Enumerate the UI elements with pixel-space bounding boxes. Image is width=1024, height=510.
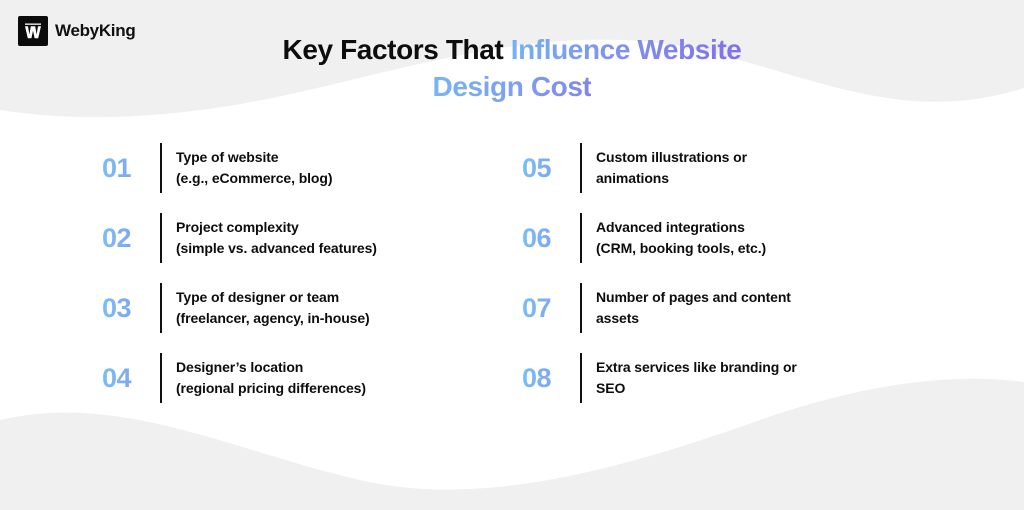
factor-divider	[580, 213, 582, 263]
factor-number: 05	[522, 153, 580, 184]
factor-label: Project complexity(simple vs. advanced f…	[176, 217, 377, 260]
list-item: 06 Advanced integrations(CRM, booking to…	[512, 203, 932, 273]
factor-label-line1: Number of pages and content	[596, 289, 791, 305]
factor-number: 04	[102, 363, 160, 394]
factor-divider	[160, 143, 162, 193]
factor-label-line2: animations	[596, 168, 747, 189]
factor-label-line1: Advanced integrations	[596, 219, 745, 235]
title-line-1: Key Factors That Influence Website	[0, 32, 1024, 69]
list-item: 01 Type of website(e.g., eCommerce, blog…	[92, 133, 512, 203]
title-part-accent-2: Design Cost	[433, 71, 592, 102]
factor-label-line2: (e.g., eCommerce, blog)	[176, 168, 332, 189]
factor-label: Type of website(e.g., eCommerce, blog)	[176, 147, 332, 190]
factor-label: Number of pages and contentassets	[596, 287, 791, 330]
factor-divider	[160, 353, 162, 403]
factor-label: Advanced integrations(CRM, booking tools…	[596, 217, 766, 260]
list-item: 02 Project complexity(simple vs. advance…	[92, 203, 512, 273]
factor-label: Extra services like branding orSEO	[596, 357, 797, 400]
factor-label-line1: Designer’s location	[176, 359, 303, 375]
list-item: 04 Designer’s location(regional pricing …	[92, 343, 512, 413]
factor-number: 02	[102, 223, 160, 254]
factor-label-line2: (regional pricing differences)	[176, 378, 366, 399]
list-item: 03 Type of designer or team(freelancer, …	[92, 273, 512, 343]
factor-divider	[580, 143, 582, 193]
factor-label-line1: Type of website	[176, 149, 278, 165]
list-item: 07 Number of pages and contentassets	[512, 273, 932, 343]
factors-list: 01 Type of website(e.g., eCommerce, blog…	[0, 133, 1024, 413]
factor-divider	[160, 283, 162, 333]
factor-label-line1: Custom illustrations or	[596, 149, 747, 165]
factor-divider	[160, 213, 162, 263]
factor-label: Designer’s location(regional pricing dif…	[176, 357, 366, 400]
title-line-2: Design Cost	[0, 69, 1024, 106]
factor-label-line1: Extra services like branding or	[596, 359, 797, 375]
factor-number: 06	[522, 223, 580, 254]
factor-label-line1: Project complexity	[176, 219, 299, 235]
factor-number: 01	[102, 153, 160, 184]
factor-label-line2: (freelancer, agency, in-house)	[176, 308, 370, 329]
list-item: 05 Custom illustrations oranimations	[512, 133, 932, 203]
factor-number: 07	[522, 293, 580, 324]
list-item: 08 Extra services like branding orSEO	[512, 343, 932, 413]
page-title: Key Factors That Influence Website Desig…	[0, 32, 1024, 106]
title-part-accent: Influence Website	[511, 34, 742, 65]
factor-divider	[580, 353, 582, 403]
factor-label-line2: (simple vs. advanced features)	[176, 238, 377, 259]
factor-label: Type of designer or team(freelancer, age…	[176, 287, 370, 330]
factor-label-line2: (CRM, booking tools, etc.)	[596, 238, 766, 259]
factor-label-line2: assets	[596, 308, 791, 329]
factor-divider	[580, 283, 582, 333]
factor-label-line2: SEO	[596, 378, 797, 399]
factor-number: 08	[522, 363, 580, 394]
factor-label: Custom illustrations oranimations	[596, 147, 747, 190]
infographic-canvas: WebyKing Key Factors That Influence Webs…	[0, 0, 1024, 510]
factor-label-line1: Type of designer or team	[176, 289, 339, 305]
factor-number: 03	[102, 293, 160, 324]
title-part-dark: Key Factors That	[283, 34, 511, 65]
